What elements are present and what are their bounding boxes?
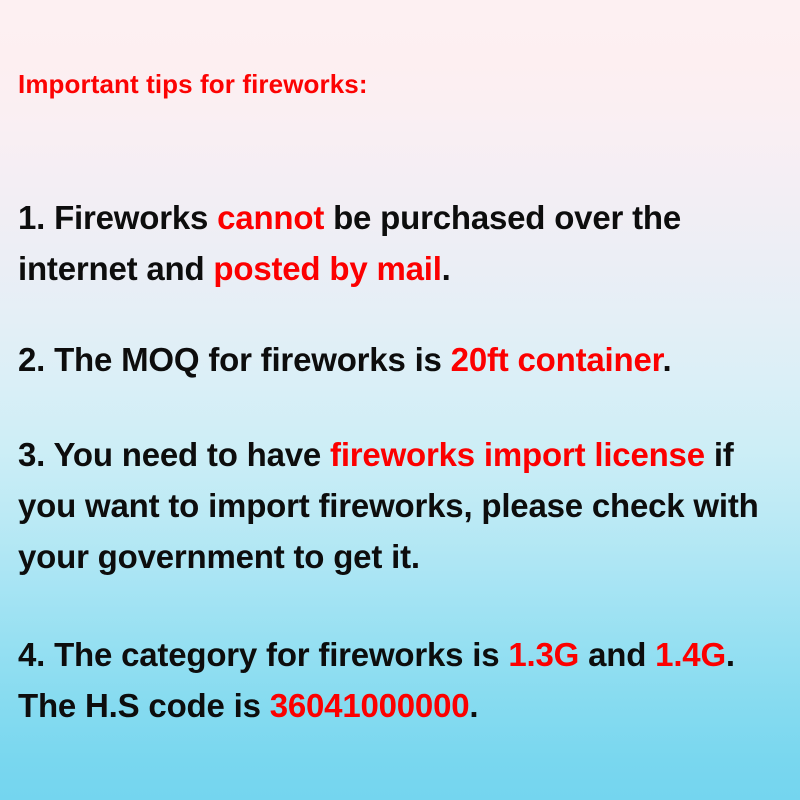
tip-item-3: 3. You need to have fireworks import lic…: [18, 429, 782, 582]
fireworks-tips-poster: Important tips for fireworks: 1. Firewor…: [0, 0, 800, 800]
body-text: 4. The category for fireworks is: [18, 636, 508, 673]
tip-item-2: 2. The MOQ for fireworks is 20ft contain…: [18, 334, 782, 385]
body-text: .: [662, 341, 671, 378]
body-text: 1. Fireworks: [18, 199, 217, 236]
highlighted-text: 1.3G: [508, 636, 579, 673]
page-title: Important tips for fireworks:: [18, 69, 368, 100]
highlighted-text: fireworks import license: [330, 436, 705, 473]
highlighted-text: 1.4G: [655, 636, 726, 673]
highlighted-text: cannot: [217, 199, 324, 236]
highlighted-text: 36041000000: [270, 687, 470, 724]
highlighted-text: posted by mail: [213, 250, 441, 287]
body-text: .: [469, 687, 478, 724]
body-text: and: [579, 636, 655, 673]
body-text: .: [442, 250, 451, 287]
highlighted-text: 20ft container: [451, 341, 663, 378]
poster-content: Important tips for fireworks: 1. Firewor…: [18, 0, 782, 800]
body-text: 2. The MOQ for fireworks is: [18, 341, 451, 378]
body-text: 3. You need to have: [18, 436, 330, 473]
tip-item-1: 1. Fireworks cannot be purchased over th…: [18, 192, 782, 294]
tip-item-4: 4. The category for fireworks is 1.3G an…: [18, 629, 782, 731]
